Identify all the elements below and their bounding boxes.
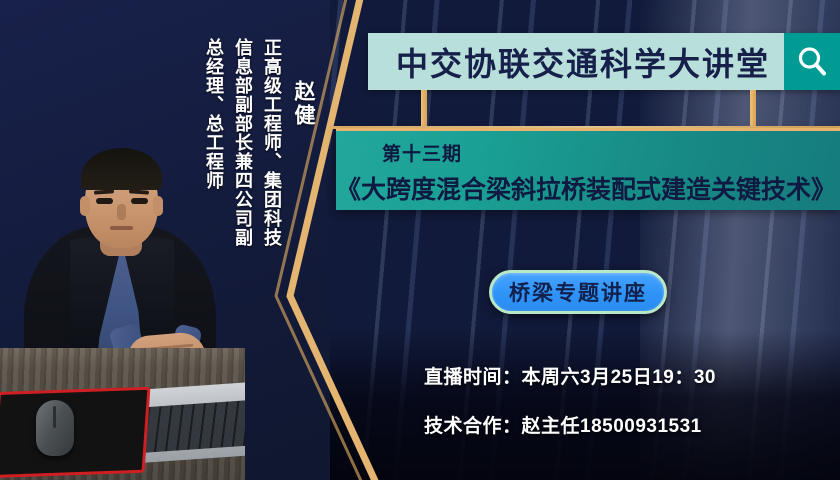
episode-topic: 《大跨度混合梁斜拉桥装配式建造关键技术》 — [336, 170, 826, 206]
hair — [81, 148, 162, 190]
laptop-keyboard — [134, 399, 245, 453]
speaker-name: 赵健 — [288, 80, 318, 128]
ear-right — [153, 196, 163, 216]
speaker-credential-line-1: 正高级工程师、集团科技 — [259, 38, 285, 247]
mouth — [110, 226, 133, 230]
broadcast-time: 直播时间：本周六3月25日19：30 — [424, 362, 716, 389]
technical-contact: 技术合作：赵主任18500931531 — [424, 411, 716, 438]
event-info-block: 直播时间：本周六3月25日19：30 技术合作：赵主任18500931531 — [424, 362, 716, 460]
webinar-poster: 赵健 正高级工程师、集团科技 信息部副部长兼四公司副 总经理、总工程师 中交协联… — [0, 0, 840, 480]
gold-accent-bar-left — [421, 90, 427, 128]
eye-right — [131, 198, 148, 204]
speaker-credential-line-2: 信息部副部长兼四公司副 — [230, 38, 256, 247]
page-title: 中交协联交通科学大讲堂 — [368, 39, 784, 85]
speaker-credentials-block: 赵健 正高级工程师、集团科技 信息部副部长兼四公司副 总经理、总工程师 — [186, 18, 318, 308]
ear-left — [80, 196, 90, 216]
mousepad — [0, 387, 150, 478]
computer-mouse — [36, 400, 74, 456]
eye-left — [96, 198, 113, 204]
episode-number: 第十三期 — [382, 139, 826, 166]
search-button[interactable] — [784, 33, 840, 90]
search-icon — [795, 45, 829, 79]
subtitle-banner: 第十三期 《大跨度混合梁斜拉桥装配式建造关键技术》 — [336, 128, 840, 210]
gold-accent-bar-right — [750, 90, 756, 128]
nose — [117, 204, 126, 220]
title-banner: 中交协联交通科学大讲堂 — [368, 33, 840, 90]
topic-tag-badge[interactable]: 桥梁专题讲座 — [489, 270, 667, 314]
speaker-credential-line-3: 总经理、总工程师 — [201, 38, 227, 190]
